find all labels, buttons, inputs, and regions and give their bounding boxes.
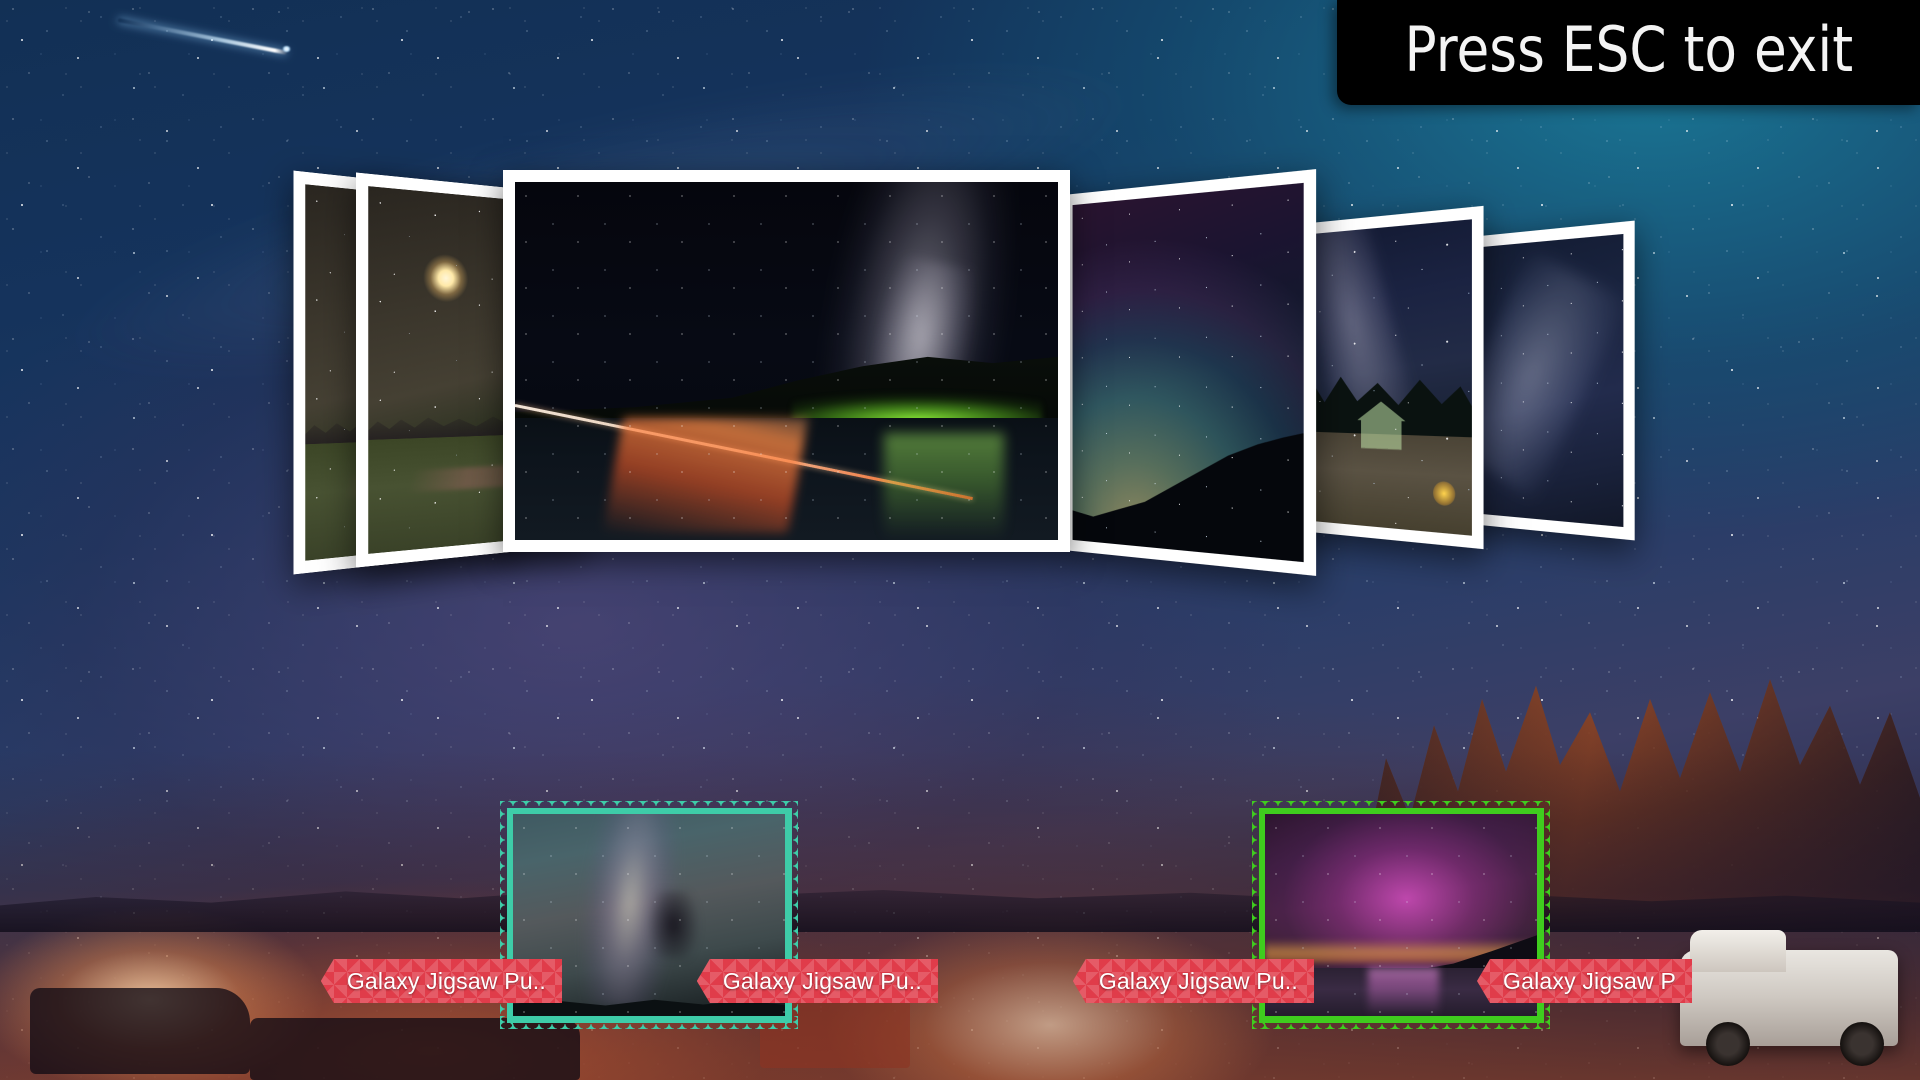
photo-starfield-dense (1469, 234, 1623, 527)
carousel-slide-center[interactable] (503, 170, 1070, 552)
carousel-photo-3 (515, 182, 1058, 540)
carousel-slide-right-farthest[interactable] (1460, 221, 1635, 541)
exit-hint-label: Press ESC to exit (1404, 19, 1853, 87)
exit-hint-banner: Press ESC to exit (1337, 0, 1920, 105)
thumbnail-strip[interactable]: Galaxy Jigsaw Pu.. Galaxy Jigsaw Pu.. (0, 795, 1920, 1045)
photo-starfield-dense (515, 182, 1058, 540)
fullscreen-gallery: Press ESC to exit (0, 0, 1920, 1080)
thumbnail-caption-label: Galaxy Jigsaw Pu.. (1099, 968, 1298, 995)
thumbnail-caption-label: Galaxy Jigsaw Pu.. (723, 968, 922, 995)
thumbnail-caption-label: Galaxy Jigsaw Pu.. (347, 968, 546, 995)
carousel-photo-4 (1073, 183, 1304, 562)
thumbnail-item-1[interactable]: Galaxy Jigsaw Pu.. (626, 801, 924, 1029)
thumbnail-caption-3: Galaxy Jigsaw P (1477, 959, 1692, 1003)
thumbnail-item-2[interactable]: Galaxy Jigsaw Pu.. (1002, 801, 1300, 1029)
thumbnail-item-0[interactable]: Galaxy Jigsaw Pu.. (250, 801, 548, 1029)
meteor-head-icon (282, 46, 291, 52)
carousel-photo-5 (1299, 219, 1472, 535)
coverflow-carousel[interactable] (0, 170, 1920, 700)
thumbnail-caption-label: Galaxy Jigsaw P (1503, 968, 1676, 995)
thumbnail-item-3[interactable]: Galaxy Jigsaw P (1380, 801, 1678, 1029)
carousel-slide-right-near[interactable] (1063, 169, 1316, 576)
carousel-slide-right-far[interactable] (1290, 206, 1484, 549)
carousel-photo-6 (1469, 234, 1623, 527)
photo-starfield (1299, 219, 1472, 535)
thumbnail-caption-0: Galaxy Jigsaw Pu.. (321, 959, 562, 1003)
photo-starfield-dense (1073, 183, 1304, 562)
thumbnail-caption-2: Galaxy Jigsaw Pu.. (1073, 959, 1314, 1003)
thumbnail-caption-1: Galaxy Jigsaw Pu.. (697, 959, 938, 1003)
